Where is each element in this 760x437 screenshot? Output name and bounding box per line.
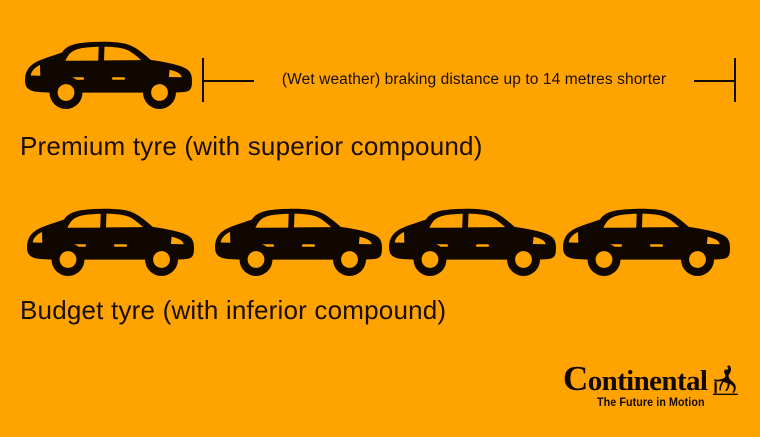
rearing-horse-icon bbox=[713, 365, 739, 395]
premium-car-silhouette bbox=[18, 40, 196, 112]
budget-car-silhouette bbox=[20, 205, 198, 281]
infographic-canvas: (Wet weather) braking distance up to 14 … bbox=[0, 0, 760, 437]
wordmark-rest: ontinental bbox=[588, 365, 708, 397]
braking-distance-bracket: (Wet weather) braking distance up to 14 … bbox=[202, 58, 736, 102]
bracket-rule-right bbox=[694, 80, 734, 82]
budget-car-row bbox=[0, 205, 760, 285]
budget-car-silhouette bbox=[208, 205, 386, 281]
bracket-rule-left bbox=[204, 80, 254, 82]
continental-logo: Continental The Future in Motion bbox=[563, 364, 741, 414]
budget-tyre-caption: Budget tyre (with inferior compound) bbox=[20, 295, 446, 325]
premium-tyre-caption: Premium tyre (with superior compound) bbox=[20, 131, 483, 161]
continental-tagline: The Future in Motion bbox=[597, 396, 705, 410]
braking-distance-label: (Wet weather) braking distance up to 14 … bbox=[256, 66, 692, 94]
budget-car-silhouette bbox=[382, 205, 560, 281]
bracket-tick-right bbox=[734, 58, 736, 102]
continental-wordmark: Continental bbox=[563, 364, 707, 396]
budget-car-silhouette bbox=[556, 205, 734, 281]
wordmark-initial-c: C bbox=[563, 359, 588, 398]
